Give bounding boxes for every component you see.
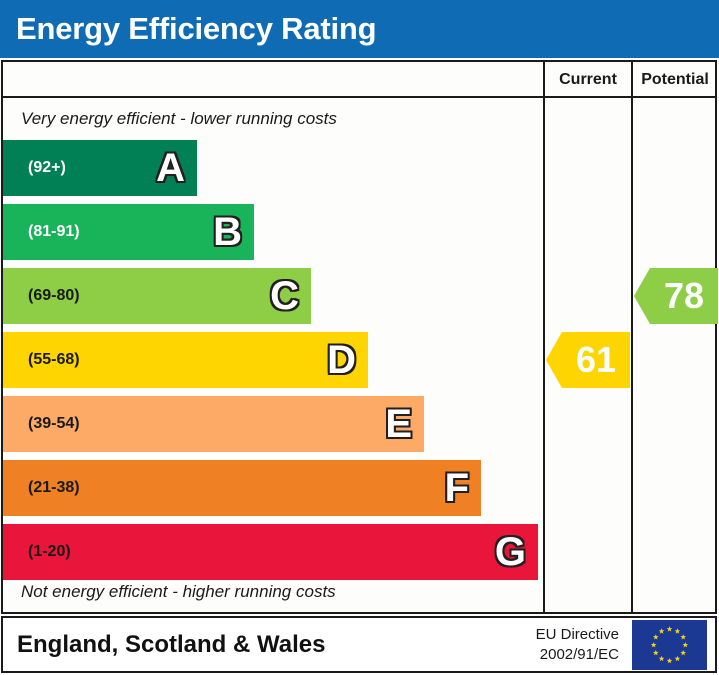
caption-not-efficient: Not energy efficient - higher running co… [21,582,336,602]
footer-directive-line2: 2002/91/EC [536,645,619,665]
footer-directive: EU Directive 2002/91/EC [536,624,619,665]
footer-directive-line1: EU Directive [536,624,619,644]
band-letter-g: G [495,532,526,572]
column-header-current: Current [545,62,631,98]
band-letter-b: B [213,212,242,252]
chart-footer: England, Scotland & Wales EU Directive 2… [1,616,717,673]
band-row-g: (1-20)G [3,524,538,580]
chart-title-banner: Energy Efficiency Rating [0,0,719,58]
band-letter-e: E [385,404,412,444]
column-divider-current [543,62,545,612]
page-title: Energy Efficiency Rating [16,11,376,47]
band-row-d: (55-68)D [3,332,368,388]
chart-body: Current Potential Very energy efficient … [1,60,717,614]
energy-efficiency-rating-chart: Energy Efficiency Rating Current Potenti… [0,0,719,675]
column-header-potential: Potential [633,62,717,98]
band-range-f: (21-38) [28,479,80,497]
band-range-c: (69-80) [28,287,80,305]
band-range-a: (92+) [28,159,66,177]
band-range-e: (39-54) [28,415,80,433]
band-letter-c: C [270,276,299,316]
band-row-b: (81-91)B [3,204,254,260]
caption-very-efficient: Very energy efficient - lower running co… [21,109,337,129]
band-row-a: (92+)A [3,140,197,196]
band-range-g: (1-20) [28,543,71,561]
band-row-f: (21-38)F [3,460,481,516]
band-letter-d: D [327,340,356,380]
column-divider-potential [631,62,633,612]
rating-value-current: 61 [562,342,630,378]
column-header-row: Current Potential [3,62,715,98]
footer-region-label: England, Scotland & Wales [17,631,325,659]
band-letter-a: A [156,148,185,188]
band-row-e: (39-54)E [3,396,424,452]
rating-arrow-current: 61 [546,332,630,388]
rating-arrow-potential: 78 [634,268,718,324]
band-row-c: (69-80)C [3,268,311,324]
rating-value-potential: 78 [650,278,718,314]
band-range-b: (81-91) [28,223,80,241]
band-range-d: (55-68) [28,351,80,369]
bands-area: Very energy efficient - lower running co… [3,98,541,612]
band-letter-f: F [445,468,469,508]
eu-flag-icon [632,620,707,670]
